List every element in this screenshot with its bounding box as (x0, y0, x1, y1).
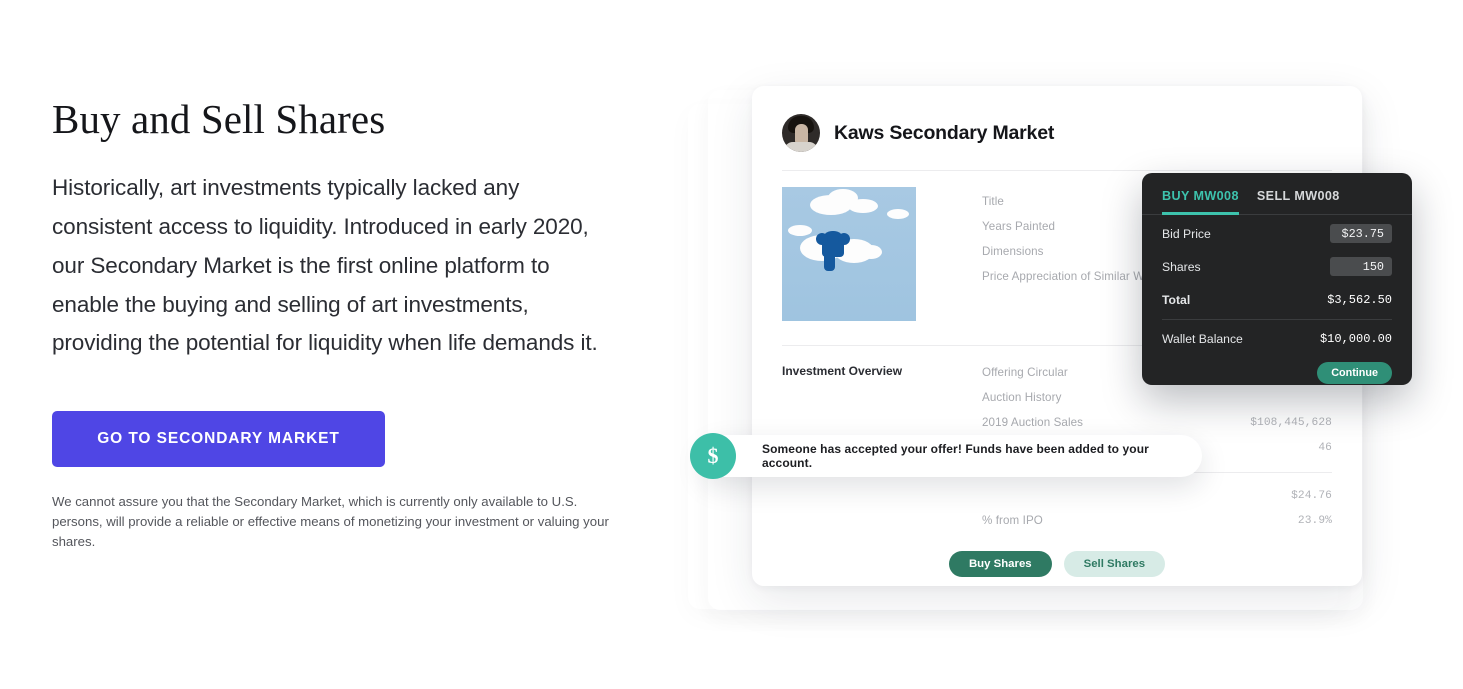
overview-label: Offering Circular (982, 366, 1068, 379)
cloud-shape (887, 209, 909, 219)
card-header: Kaws Secondary Market (752, 86, 1362, 152)
cloud-shape (848, 199, 878, 213)
avatar (782, 114, 820, 152)
figure-ear-right (838, 233, 850, 245)
wallet-balance-label: Wallet Balance (1162, 332, 1243, 346)
overview-label: Auction History (982, 391, 1061, 404)
avatar-shoulder (784, 142, 818, 152)
investment-overview-secondary: $24.76 % from IPO 23.9% (752, 473, 1362, 533)
total-value: $3,562.50 (1327, 293, 1392, 307)
artwork-thumbnail (782, 187, 916, 321)
detail-label: Years Painted (982, 220, 1055, 233)
tab-buy-mw008[interactable]: BUY MW008 (1162, 189, 1239, 215)
shares-input[interactable] (1330, 257, 1392, 276)
bid-price-label: Bid Price (1162, 227, 1211, 241)
overview-row: Auction History (982, 385, 1332, 410)
overview-row: 2019 Auction Sales $108,445,628 (982, 410, 1332, 435)
figure-ear-left (816, 233, 828, 245)
disclaimer-text: We cannot assure you that the Secondary … (52, 492, 612, 551)
bid-price-row: Bid Price (1162, 219, 1392, 248)
total-row: Total $3,562.50 (1162, 285, 1392, 314)
page-title: Buy and Sell Shares (52, 96, 652, 143)
left-content-column: Buy and Sell Shares Historically, art in… (52, 96, 652, 552)
total-label: Total (1162, 293, 1190, 307)
overview-spacer (782, 483, 982, 533)
shares-label: Shares (1162, 260, 1201, 274)
overview-value: 23.9% (1298, 515, 1332, 527)
detail-label: Price Appreciation of Similar Works (982, 270, 1166, 283)
overview-row: $24.76 (982, 483, 1332, 508)
dollar-icon: $ (690, 433, 736, 479)
detail-label: Dimensions (982, 245, 1044, 258)
overview-label: 2019 Auction Sales (982, 416, 1083, 429)
buy-shares-button[interactable]: Buy Shares (949, 551, 1052, 577)
card-action-buttons: Buy Shares Sell Shares (752, 533, 1362, 577)
overview-value: $24.76 (1291, 490, 1332, 502)
shares-row: Shares (1162, 252, 1392, 281)
page-root: Buy and Sell Shares Historically, art in… (0, 0, 1463, 689)
trade-panel-divider (1162, 319, 1392, 320)
overview-row: % from IPO 23.9% (982, 508, 1332, 533)
figure-body (824, 253, 835, 271)
trade-panel: BUY MW008 SELL MW008 Bid Price Shares To… (1142, 173, 1412, 385)
trade-panel-tabs: BUY MW008 SELL MW008 (1162, 189, 1392, 215)
toast-message: Someone has accepted your offer! Funds h… (762, 442, 1202, 470)
wallet-balance-value: $10,000.00 (1320, 332, 1392, 346)
product-mockup: Kaws Secondary Market (680, 60, 1440, 620)
bid-price-input[interactable] (1330, 224, 1392, 243)
tab-sell-mw008[interactable]: SELL MW008 (1257, 189, 1340, 215)
card-title: Kaws Secondary Market (834, 122, 1054, 145)
overview-value: $108,445,628 (1250, 417, 1332, 429)
sell-shares-button[interactable]: Sell Shares (1064, 551, 1165, 577)
notification-toast: $ Someone has accepted your offer! Funds… (702, 435, 1202, 477)
overview-secondary-list: $24.76 % from IPO 23.9% (982, 483, 1332, 533)
overview-label: % from IPO (982, 514, 1043, 527)
cloud-shape (788, 225, 812, 236)
body-paragraph: Historically, art investments typically … (52, 169, 612, 363)
wallet-balance-row: Wallet Balance $10,000.00 (1162, 324, 1392, 353)
overview-value: 46 (1318, 442, 1332, 454)
go-to-secondary-market-button[interactable]: GO TO SECONDARY MARKET (52, 411, 385, 467)
cloud-shape (860, 245, 882, 259)
continue-button-wrap: Continue (1162, 362, 1392, 384)
detail-label: Title (982, 195, 1004, 208)
continue-button[interactable]: Continue (1317, 362, 1392, 384)
